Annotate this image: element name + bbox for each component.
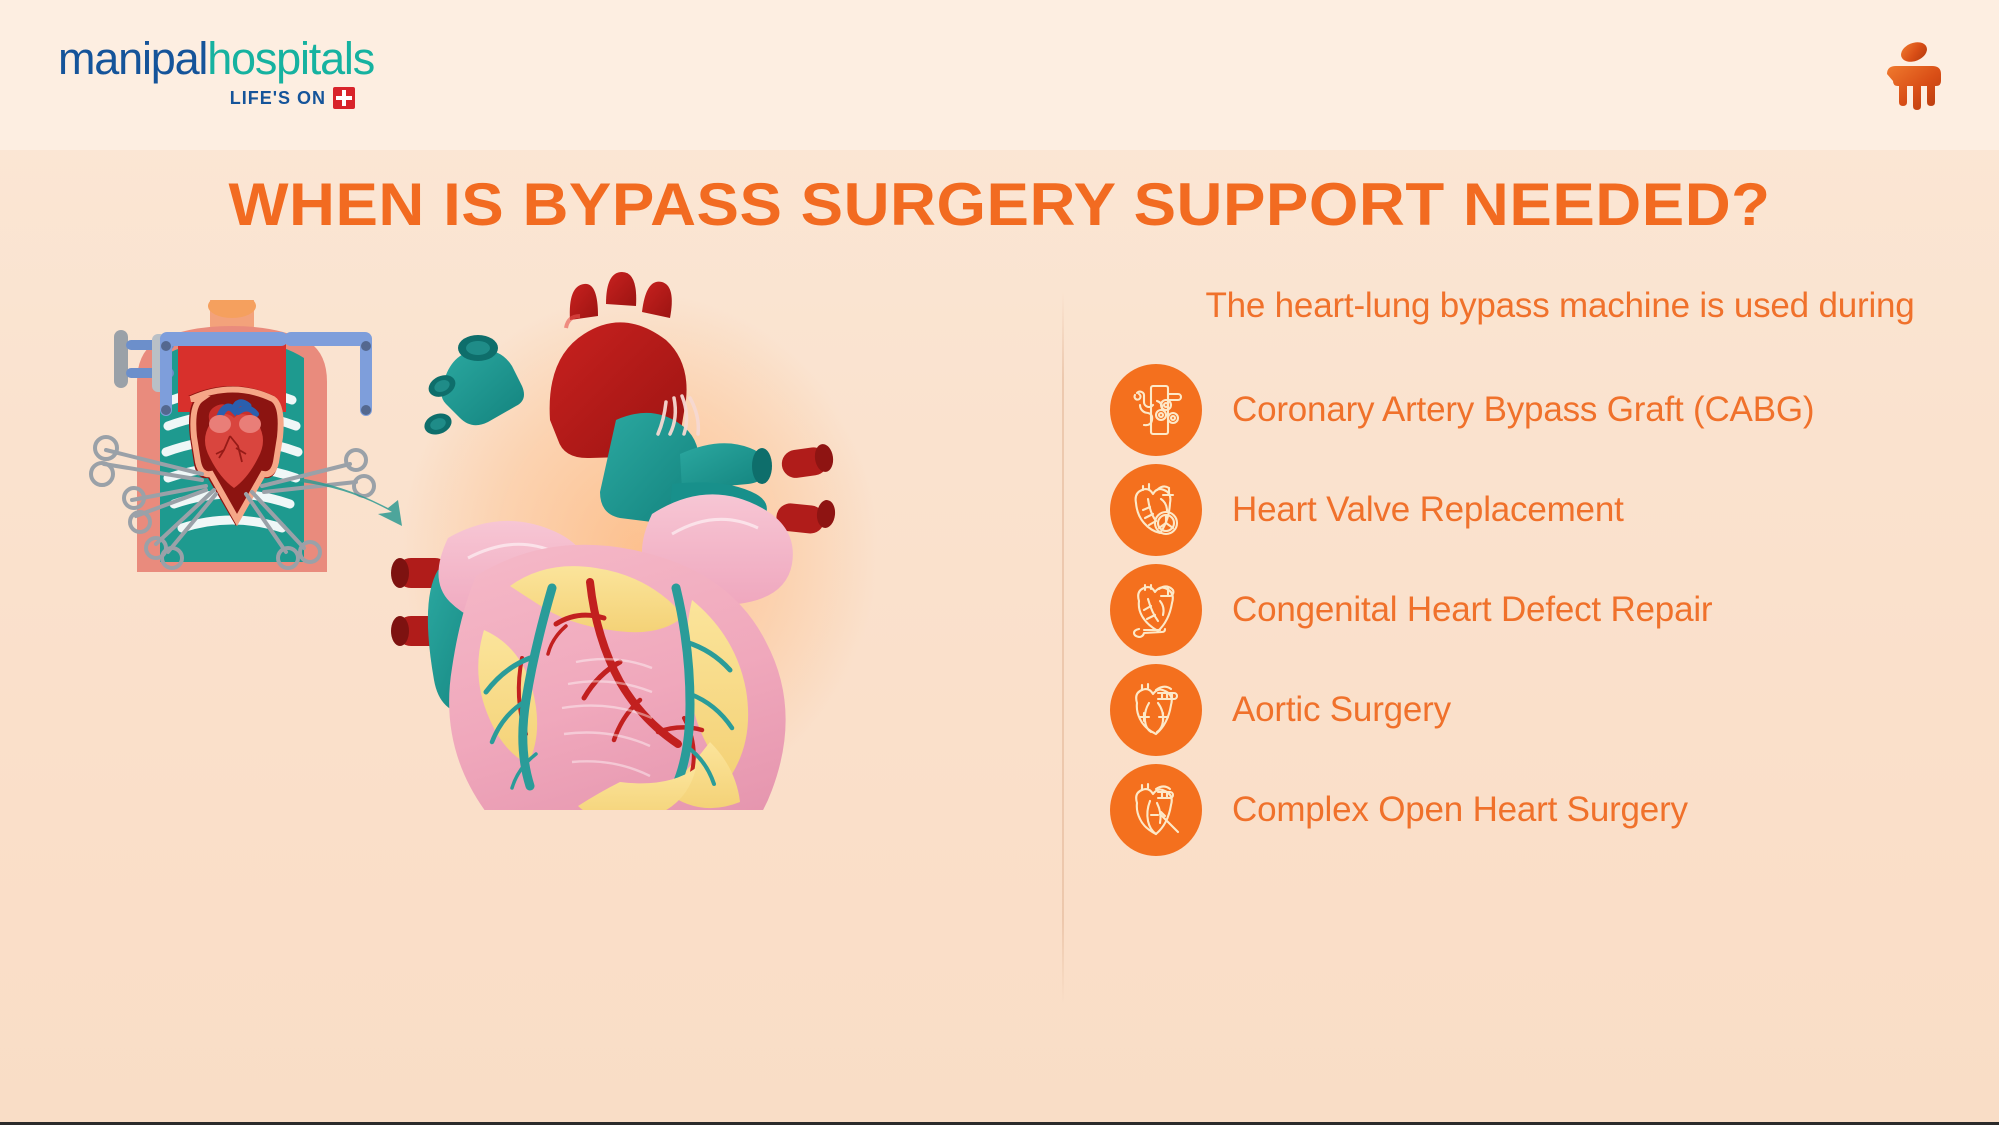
list-item-label: Coronary Artery Bypass Graft (CABG) (1232, 390, 1814, 430)
infographic-poster: manipalhospitals LIFE'S ON (0, 0, 1999, 1125)
list-item[interactable]: Complex Open Heart Surgery (1110, 760, 1999, 860)
logo-tagline: LIFE'S ON (58, 87, 355, 109)
list-item[interactable]: Coronary Artery Bypass Graft (CABG) (1110, 360, 1999, 460)
manipal-m-mark-icon (1877, 38, 1951, 110)
column-divider (1062, 292, 1064, 1004)
illustration-column (0, 250, 1060, 1050)
header-band: manipalhospitals LIFE'S ON (0, 0, 1999, 150)
procedures-list: Coronary Artery Bypass Graft (CABG) (1110, 360, 1999, 860)
list-item-label: Complex Open Heart Surgery (1232, 790, 1688, 830)
list-item-label: Heart Valve Replacement (1232, 490, 1624, 530)
open-chest-surgery-illustration (60, 300, 390, 590)
list-item[interactable]: Heart Valve Replacement (1110, 460, 1999, 560)
list-item[interactable]: Aortic Surgery (1110, 660, 1999, 760)
open-heart-surgery-icon (1110, 764, 1202, 856)
coronary-graft-icon (1110, 364, 1202, 456)
logo-wordmark: manipalhospitals (58, 36, 458, 81)
aortic-surgery-icon (1110, 664, 1202, 756)
red-cross-icon (333, 87, 355, 109)
congenital-defect-icon (1110, 564, 1202, 656)
page-title: WHEN IS BYPASS SURGERY SUPPORT NEEDED? (0, 170, 1999, 239)
anatomical-heart-illustration (380, 270, 900, 810)
list-item[interactable]: Congenital Heart Defect Repair (1110, 560, 1999, 660)
logo-word-manipal: manipal (58, 33, 207, 84)
heart-valve-icon (1110, 464, 1202, 556)
tagline-text: LIFE'S ON (230, 88, 326, 109)
logo-word-hospitals: hospitals (207, 33, 374, 84)
manipal-hospitals-logo[interactable]: manipalhospitals LIFE'S ON (58, 36, 458, 109)
list-item-label: Congenital Heart Defect Repair (1232, 590, 1712, 630)
procedures-column: The heart-lung bypass machine is used du… (1080, 286, 1999, 860)
list-item-label: Aortic Surgery (1232, 690, 1451, 730)
list-subtitle: The heart-lung bypass machine is used du… (1110, 286, 1999, 326)
